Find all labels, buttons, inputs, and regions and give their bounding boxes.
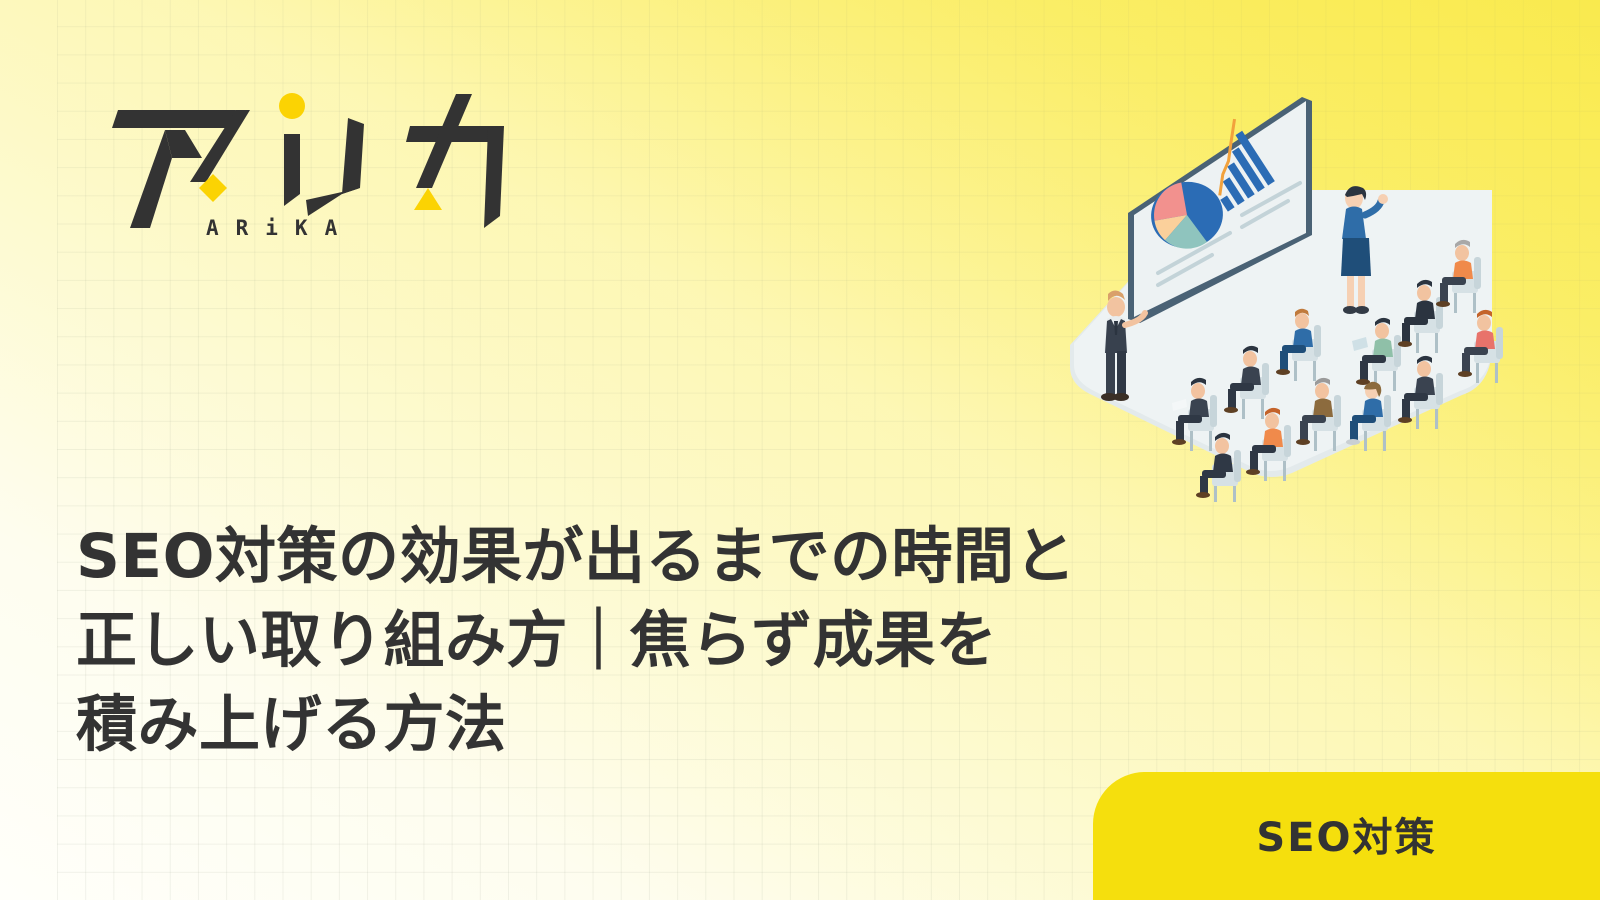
- logo-accent-circle: [279, 93, 305, 119]
- title-line-3: 積み上げる方法: [76, 683, 1306, 767]
- logo-mark-arika-katakana: [110, 88, 530, 228]
- title-line-2: 正しい取り組み方｜焦らず成果を: [76, 599, 1306, 683]
- logo-accent-triangle: [414, 188, 442, 210]
- title-line-1: SEO対策の効果が出るまでの時間と: [76, 515, 1306, 599]
- page-title: SEO対策の効果が出るまでの時間と 正しい取り組み方｜焦らず成果を 積み上げる方…: [76, 515, 1306, 768]
- eyecatch-banner: ARiKA: [0, 0, 1600, 900]
- category-badge-label: SEO対策: [1256, 805, 1436, 863]
- site-logo[interactable]: ARiKA: [110, 88, 530, 248]
- logo-wordmark: ARiKA: [206, 216, 354, 240]
- category-badge[interactable]: SEO対策: [1093, 772, 1600, 900]
- seminar-illustration: [1062, 95, 1532, 505]
